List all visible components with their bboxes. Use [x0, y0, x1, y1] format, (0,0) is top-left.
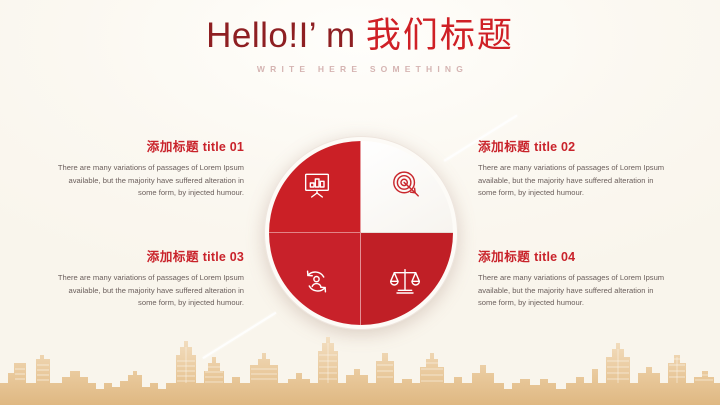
feature-title-01: 添加标题 title 01 — [56, 136, 244, 155]
diagram-quadrant-top-right[interactable] — [361, 141, 453, 233]
feature-title-04: 添加标题 title 04 — [478, 246, 666, 265]
feature-title-02-cn: 添加标题 — [478, 140, 530, 154]
page-title-chinese: 我们标题 — [366, 16, 514, 55]
page-subtitle: WRITE HERE SOMETHING — [0, 64, 720, 74]
feature-title-01-cn: 添加标题 — [147, 140, 199, 154]
feature-title-03-en: title 03 — [199, 250, 244, 264]
diagram-quadrant-bottom-left[interactable] — [269, 233, 361, 325]
user-refresh-icon — [300, 265, 333, 298]
quadrant-circle-diagram — [264, 136, 458, 330]
feature-title-04-en: title 04 — [530, 250, 575, 264]
feature-body-02: There are many variations of passages of… — [478, 162, 666, 200]
presentation-chart-icon — [301, 169, 333, 201]
feature-title-01-en: title 01 — [199, 140, 244, 154]
feature-block-01: 添加标题 title 01 There are many variations … — [56, 136, 244, 200]
feature-body-01: There are many variations of passages of… — [56, 162, 244, 200]
diagram-inner-disc — [269, 141, 453, 325]
diagram-quadrant-top-left[interactable] — [269, 141, 361, 233]
feature-title-02: 添加标题 title 02 — [478, 136, 666, 155]
balance-scales-icon — [389, 265, 421, 297]
feature-body-03: There are many variations of passages of… — [56, 272, 244, 310]
feature-title-02-en: title 02 — [530, 140, 575, 154]
city-skyline-decoration — [0, 333, 720, 405]
feature-title-04-cn: 添加标题 — [478, 250, 530, 264]
feature-block-02: 添加标题 title 02 There are many variations … — [478, 136, 666, 200]
feature-title-03: 添加标题 title 03 — [56, 246, 244, 265]
feature-block-03: 添加标题 title 03 There are many variations … — [56, 246, 244, 310]
feature-body-04: There are many variations of passages of… — [478, 272, 666, 310]
feature-block-04: 添加标题 title 04 There are many variations … — [478, 246, 666, 310]
feature-title-03-cn: 添加标题 — [147, 250, 199, 264]
slide-canvas: Hello!I’ m 我们标题 WRITE HERE SOMETHING — [0, 0, 720, 405]
page-title-english: Hello!I’ m — [206, 16, 366, 55]
diagram-quadrant-bottom-right[interactable] — [361, 233, 453, 325]
page-title: Hello!I’ m 我们标题 — [0, 14, 720, 58]
city-skyline-icon — [0, 333, 720, 405]
slide-header: Hello!I’ m 我们标题 WRITE HERE SOMETHING — [0, 14, 720, 74]
target-dart-icon — [389, 168, 422, 201]
